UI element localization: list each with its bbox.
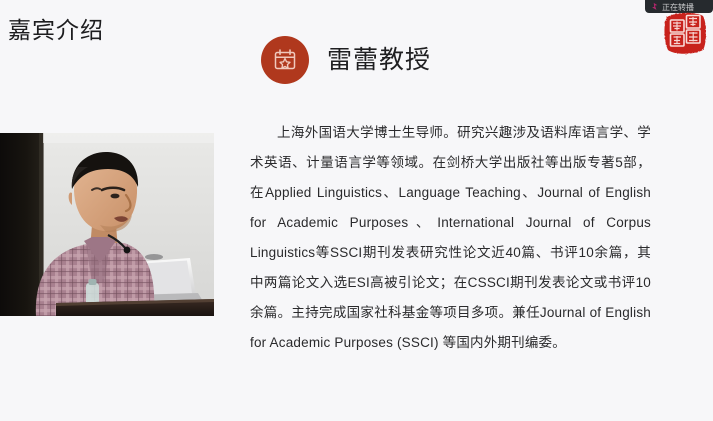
presentation-slide: 嘉宾介绍: [0, 0, 713, 421]
speaker-photo: [0, 133, 214, 316]
speaker-name: 雷蕾教授: [327, 45, 431, 75]
speaker-photo-image: [0, 133, 214, 316]
speaker-heading: 雷蕾教授: [261, 36, 431, 84]
calendar-star-icon: [261, 36, 309, 84]
broadcast-icon: [649, 1, 660, 12]
seal-logo: [661, 9, 709, 57]
speaker-bio: 上海外国语大学博士生导师。研究兴趣涉及语料库语言学、学术英语、计量语言学等领域。…: [250, 118, 651, 358]
page-title: 嘉宾介绍: [8, 17, 104, 45]
